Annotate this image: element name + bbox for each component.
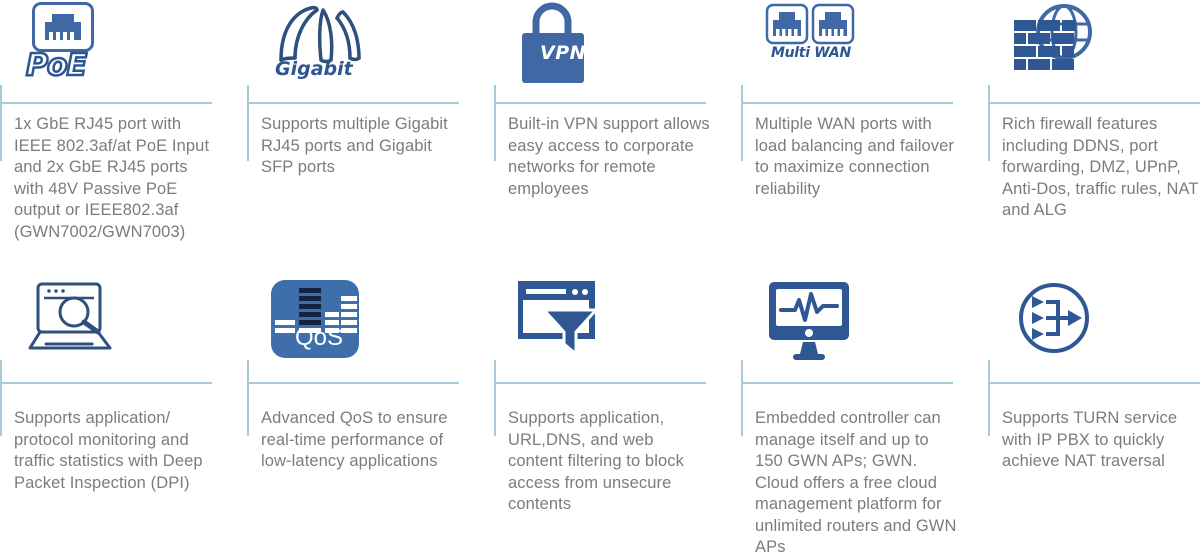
- qos-equalizer-icon: QoS: [271, 280, 363, 360]
- icon-container: VPN: [508, 0, 741, 98]
- feature-cell-dpi: Supports application/ protocol monitorin…: [0, 272, 247, 544]
- cell-vertical-rule: [988, 360, 990, 436]
- feature-description: Supports application/ protocol monitorin…: [14, 408, 219, 494]
- cell-vertical-rule: [0, 85, 2, 161]
- feature-description: Supports TURN service with IP PBX to qui…: [1002, 408, 1200, 473]
- rj45-port-glyph: [32, 2, 94, 52]
- multi-wan-icon-label: Multi WAN: [771, 45, 851, 61]
- cell-horizontal-rule: [247, 102, 459, 104]
- icon-container: PoE: [14, 0, 247, 98]
- feature-cell-controller: Embedded controller can manage itself an…: [741, 272, 988, 544]
- cell-horizontal-rule: [0, 382, 212, 384]
- monitor-pulse-icon: [765, 280, 857, 360]
- cell-horizontal-rule: [741, 382, 953, 384]
- poe-icon-label: PoE: [26, 48, 86, 83]
- gigabit-speed-icon: Gigabit: [271, 2, 371, 80]
- laptop-magnifier-icon: [24, 280, 116, 358]
- feature-description: Built-in VPN support allows easy access …: [508, 114, 713, 200]
- icon-container: Gigabit: [261, 0, 494, 98]
- cell-horizontal-rule: [988, 382, 1200, 384]
- firewall-brickwall-globe-icon: [1012, 2, 1102, 86]
- icon-container: [1002, 272, 1200, 384]
- feature-description: Supports application, URL,DNS, and web c…: [508, 408, 713, 516]
- cell-horizontal-rule: [988, 102, 1200, 104]
- cell-horizontal-rule: [494, 382, 706, 384]
- gigabit-speed-svg: [271, 2, 371, 64]
- feature-cell-multi-wan: Multi WAN Multiple WAN ports with load b…: [741, 0, 988, 272]
- cell-vertical-rule: [741, 85, 743, 161]
- feature-grid-board: PoE 1x GbE RJ45 port with IEEE 802.3af/a…: [0, 0, 1200, 544]
- feature-cell-vpn: VPN Built-in VPN support allows easy acc…: [494, 0, 741, 272]
- icon-container: [755, 272, 988, 384]
- cell-horizontal-rule: [0, 102, 212, 104]
- feature-cell-qos: QoS Advanced QoS to ensure real-time per…: [247, 272, 494, 544]
- vpn-padlock-icon: VPN: [518, 2, 608, 88]
- cell-horizontal-rule: [247, 382, 459, 384]
- feature-cell-web-filtering: Supports application, URL,DNS, and web c…: [494, 272, 741, 544]
- feature-cell-firewall: Rich firewall features including DDNS, p…: [988, 0, 1200, 272]
- icon-container: [508, 272, 741, 384]
- feature-grid: PoE 1x GbE RJ45 port with IEEE 802.3af/a…: [0, 0, 1200, 544]
- icon-container: [1002, 0, 1200, 98]
- cell-horizontal-rule: [494, 102, 706, 104]
- icon-container: QoS: [261, 272, 494, 384]
- cell-vertical-rule: [494, 360, 496, 436]
- multi-wan-ports-icon: Multi WAN: [765, 2, 857, 61]
- gigabit-icon-label: Gigabit: [275, 58, 353, 80]
- cell-vertical-rule: [247, 85, 249, 161]
- feature-description: Advanced QoS to ensure real-time perform…: [261, 408, 466, 473]
- cell-vertical-rule: [0, 360, 2, 436]
- feature-description: Multiple WAN ports with load balancing a…: [755, 114, 960, 200]
- feature-description: Supports multiple Gigabit RJ45 ports and…: [261, 114, 466, 179]
- brickwall-glyph: [1014, 20, 1076, 70]
- feature-cell-turn: Supports TURN service with IP PBX to qui…: [988, 272, 1200, 544]
- rj45-svg: [41, 10, 85, 44]
- cell-vertical-rule: [741, 360, 743, 436]
- icon-container: Multi WAN: [755, 0, 988, 98]
- feature-description: Rich firewall features including DDNS, p…: [1002, 114, 1200, 222]
- cell-vertical-rule: [247, 360, 249, 436]
- icon-container: [14, 272, 247, 384]
- qos-icon-label: QoS: [295, 324, 343, 352]
- feature-description: 1x GbE RJ45 port with IEEE 802.3af/at Po…: [14, 114, 219, 243]
- browser-funnel-filter-icon: [518, 280, 610, 358]
- poe-rj45-icon: PoE: [24, 2, 120, 83]
- vpn-icon-label: VPN: [540, 42, 586, 64]
- turn-nat-traversal-icon: [1012, 280, 1104, 360]
- feature-cell-gigabit: Gigabit Supports multiple Gigabit RJ45 p…: [247, 0, 494, 272]
- multi-wan-svg: [765, 2, 857, 48]
- cell-vertical-rule: [988, 85, 990, 161]
- cell-vertical-rule: [494, 85, 496, 161]
- cell-horizontal-rule: [741, 102, 953, 104]
- feature-description: Embedded controller can manage itself an…: [755, 408, 960, 559]
- feature-cell-poe: PoE 1x GbE RJ45 port with IEEE 802.3af/a…: [0, 0, 247, 272]
